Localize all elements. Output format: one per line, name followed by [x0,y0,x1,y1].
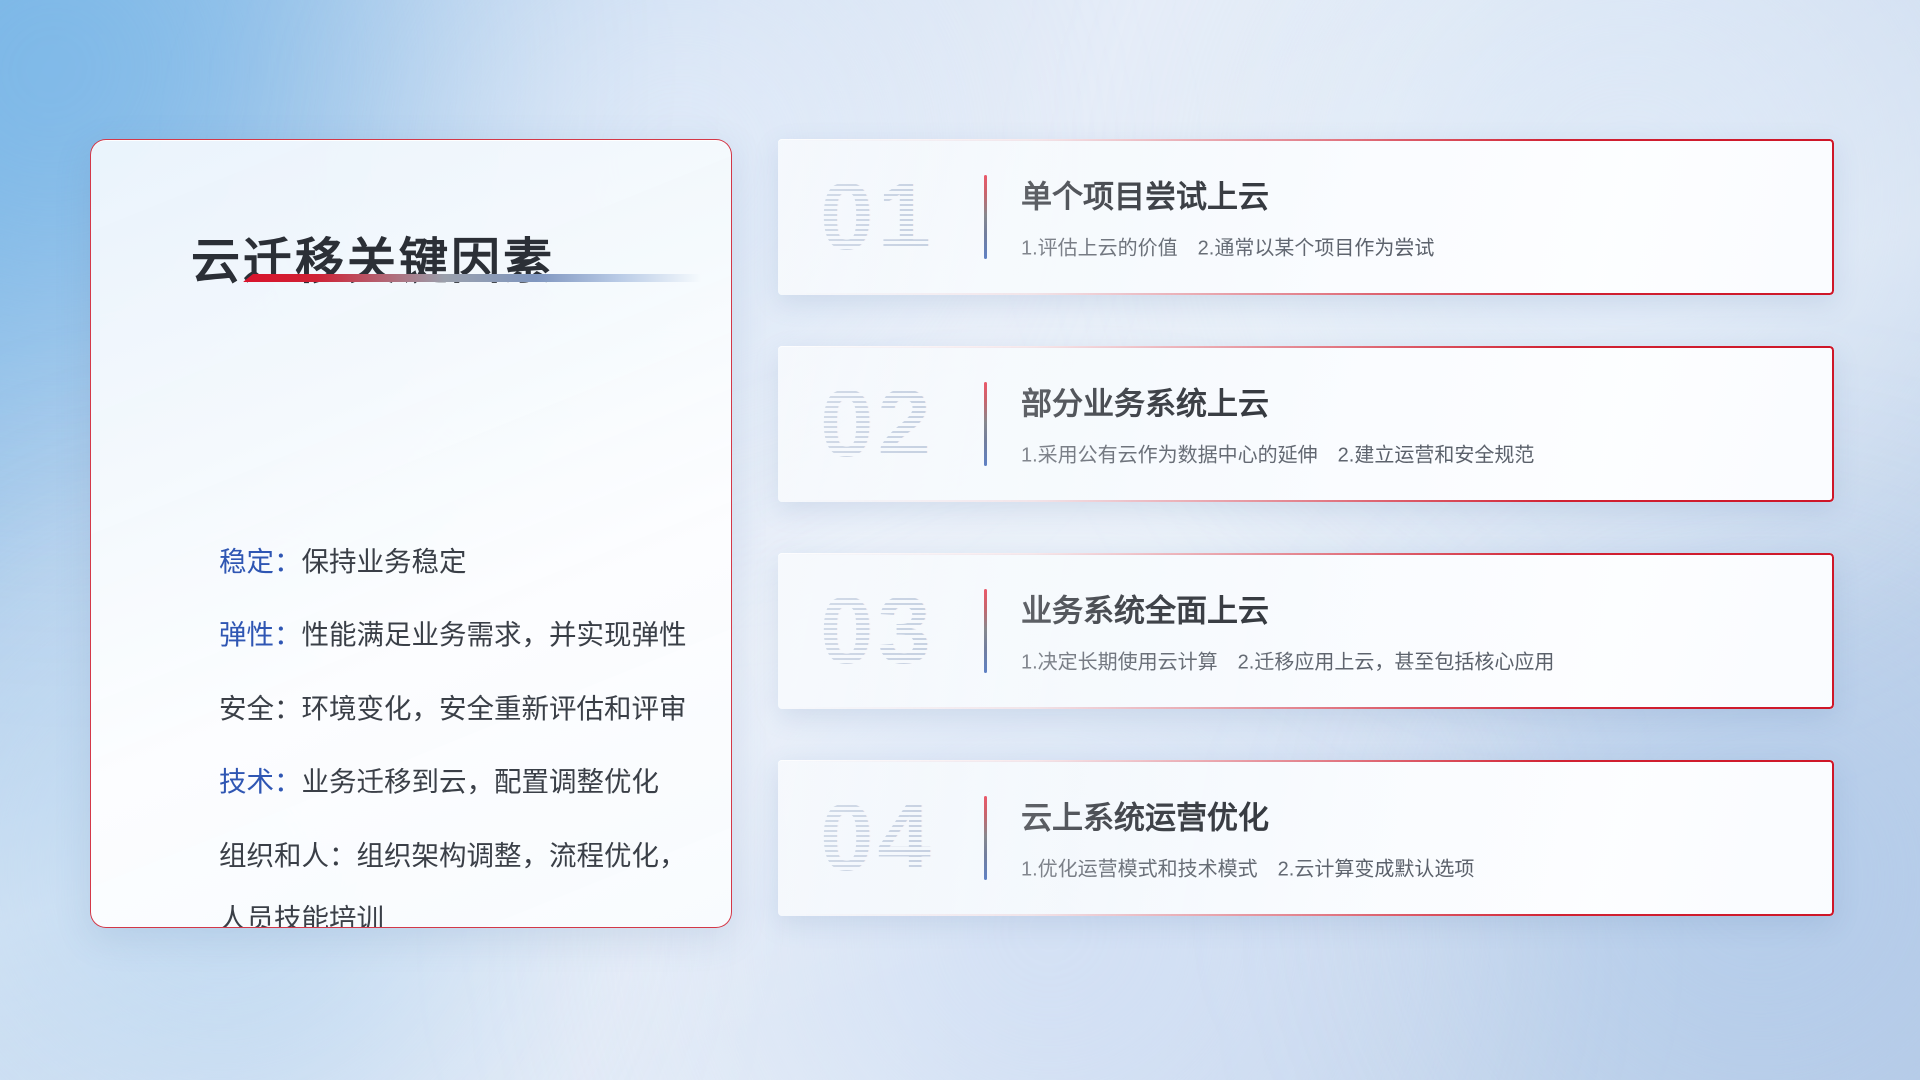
factor-item-technology: 技术：业务迁移到云，配置调整优化 [219,768,681,796]
step-number-01: 01 [820,169,935,265]
step-title-03: 业务系统全面上云 [1021,592,1806,629]
step-card-04[interactable]: 04 云上系统运营优化 1.优化运营模式和技术模式 2.云计算变成默认选项 [778,760,1834,916]
factor-item-organization: 组织和人：组织架构调整，流程优化， [219,842,681,870]
factor-value-security: 环境变化，安全重新评估和评审 [302,693,687,724]
factor-item-elasticity: 弹性：性能满足业务需求，并实现弹性 [219,621,681,649]
factor-key-organization: 组织和人： [219,840,357,871]
step-body: 单个项目尝试上云 1.评估上云的价值 2.通常以某个项目作为尝试 [1021,153,1806,282]
step-title-04: 云上系统运营优化 [1021,799,1806,836]
factor-value-organization: 组织架构调整，流程优化， [357,840,687,871]
step-card-03[interactable]: 03 业务系统全面上云 1.决定长期使用云计算 2.迁移应用上云，甚至包括核心应… [778,553,1834,709]
factor-value-organization-continued: 人员技能培训 [219,903,384,928]
step-number-04: 04 [820,790,935,886]
step-body: 业务系统全面上云 1.决定长期使用云计算 2.迁移应用上云，甚至包括核心应用 [1021,567,1806,696]
step-title-01: 单个项目尝试上云 [1021,178,1806,215]
factor-key-security: 安全： [219,693,302,724]
step-accent-bar [984,796,987,880]
factor-item-stability: 稳定：保持业务稳定 [219,548,681,576]
step-body: 云上系统运营优化 1.优化运营模式和技术模式 2.云计算变成默认选项 [1021,774,1806,903]
factor-value-technology: 业务迁移到云，配置调整优化 [302,766,660,797]
step-number-03: 03 [820,583,935,679]
key-factors-panel: 云迁移关键因素 稳定：保持业务稳定 弹性：性能满足业务需求，并实现弹性 安全：环… [90,139,732,928]
factor-list: 稳定：保持业务稳定 弹性：性能满足业务需求，并实现弹性 安全：环境变化，安全重新… [219,520,681,928]
step-number-02: 02 [820,376,935,472]
factor-item-organization-continued: 人员技能培训 [219,905,681,928]
step-card-01[interactable]: 01 单个项目尝试上云 1.评估上云的价值 2.通常以某个项目作为尝试 [778,139,1834,295]
step-accent-bar [984,382,987,466]
step-title-02: 部分业务系统上云 [1021,385,1806,422]
step-desc-03: 1.决定长期使用云计算 2.迁移应用上云，甚至包括核心应用 [1021,649,1806,675]
factor-key-elasticity: 弹性： [219,619,302,650]
panel-title: 云迁移关键因素 [191,222,555,293]
factor-item-security: 安全：环境变化，安全重新评估和评审 [219,695,681,723]
title-underline-rule [243,274,701,282]
step-desc-02: 1.采用公有云作为数据中心的延伸 2.建立运营和安全规范 [1021,442,1806,468]
step-desc-01: 1.评估上云的价值 2.通常以某个项目作为尝试 [1021,235,1806,261]
step-desc-04: 1.优化运营模式和技术模式 2.云计算变成默认选项 [1021,856,1806,882]
factor-key-stability: 稳定： [219,546,302,577]
step-card-02[interactable]: 02 部分业务系统上云 1.采用公有云作为数据中心的延伸 2.建立运营和安全规范 [778,346,1834,502]
factor-value-elasticity: 性能满足业务需求，并实现弹性 [302,619,687,650]
step-accent-bar [984,589,987,673]
step-body: 部分业务系统上云 1.采用公有云作为数据中心的延伸 2.建立运营和安全规范 [1021,360,1806,489]
factor-key-technology: 技术： [219,766,302,797]
factor-value-stability: 保持业务稳定 [302,546,467,577]
step-accent-bar [984,175,987,259]
